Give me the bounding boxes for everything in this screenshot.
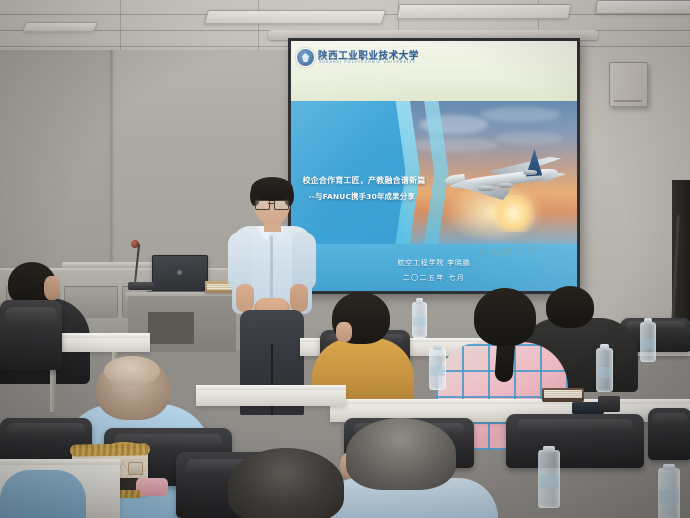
desk-row-middle-left	[196, 388, 346, 406]
presenter-arm-left	[236, 284, 254, 312]
presenter-standing	[226, 180, 318, 415]
presenter-glasses-bridge	[268, 203, 274, 204]
microphone-head	[131, 240, 139, 248]
desk-edge-middle-left	[196, 385, 346, 390]
chair[interactable]	[648, 408, 690, 460]
presenter-glasses-left	[255, 200, 270, 210]
university-logo-icon	[296, 48, 315, 67]
water-bottle[interactable]	[640, 322, 656, 362]
slide-date: 二〇二五年 七月	[291, 273, 577, 283]
slide-subtitle: --与FANUC携手30年成果分享	[308, 191, 479, 202]
handbag-clasp	[128, 462, 143, 475]
slide-header-band: 陕西工业职业技术大学 SHAANXI POLYTECHNIC UNIVERSIT…	[291, 41, 577, 101]
presentation-slide: 陕西工业职业技术大学 SHAANXI POLYTECHNIC UNIVERSIT…	[291, 41, 577, 291]
phone-case	[598, 396, 620, 412]
lectern-niche	[148, 312, 194, 344]
water-bottle[interactable]	[429, 348, 446, 390]
foreground-dark-hair-man-head	[228, 448, 344, 518]
chair[interactable]	[0, 300, 62, 370]
foreground-blue-shoulder	[0, 470, 86, 518]
audience-older-man-bald-crown	[104, 356, 160, 386]
notebook-pages	[544, 390, 582, 398]
audience-ponytail-head	[474, 288, 536, 346]
audience-dark-head	[546, 286, 594, 328]
presentation-room-photo: 陕西工业职业技术大学 SHAANXI POLYTECHNIC UNIVERSIT…	[0, 0, 690, 518]
slide-title-block: 校企合作育工匠，产教融合谱新篇 --与FANUC携手30年成果分享	[302, 175, 479, 202]
desk-edge-middle	[330, 399, 690, 404]
ceiling-light-2	[396, 4, 571, 19]
projection-screen: 陕西工业职业技术大学 SHAANXI POLYTECHNIC UNIVERSIT…	[291, 41, 577, 291]
audience-black-polo-face	[44, 276, 60, 300]
speaker-vent	[614, 100, 642, 102]
ceiling-light-3	[595, 0, 690, 14]
water-bottle[interactable]	[658, 468, 680, 518]
slide-body: 校企合作育工匠，产教融合谱新篇 --与FANUC携手30年成果分享	[291, 101, 577, 244]
presenter-sleeve-left	[228, 232, 252, 290]
slide-footer-band: 明 信 德 写 笃 作 航空工程学院 李晓鹏 二〇二五年 七月	[291, 244, 577, 292]
ceiling-light-4	[22, 22, 98, 32]
ceiling-light-1	[204, 10, 386, 24]
laptop-logo-icon	[177, 270, 182, 275]
water-bottle[interactable]	[596, 348, 613, 392]
microphone-base	[128, 282, 154, 290]
water-bottle[interactable]	[538, 450, 560, 508]
slide-title: 校企合作育工匠，产教融合谱新篇	[302, 175, 479, 186]
chair[interactable]	[506, 414, 644, 468]
slide-presenter: 航空工程学院 李晓鹏	[291, 258, 577, 268]
university-name-en: SHAANXI POLYTECHNIC UNIVERSITY	[319, 60, 416, 64]
wall-speaker	[609, 62, 648, 107]
foreground-gray-man-head	[346, 418, 456, 490]
handbag-chain-strap	[70, 443, 150, 456]
water-bottle[interactable]	[412, 302, 427, 338]
presenter-glasses-right	[274, 200, 289, 210]
presenter-arm-right	[290, 284, 308, 312]
audience-woman-mustard-face	[336, 322, 352, 342]
desk-edge-foreground-left	[0, 459, 120, 465]
laptop	[152, 255, 208, 295]
projection-screen-frame: 陕西工业职业技术大学 SHAANXI POLYTECHNIC UNIVERSIT…	[288, 38, 580, 294]
presenter-sleeve-right	[292, 232, 316, 290]
